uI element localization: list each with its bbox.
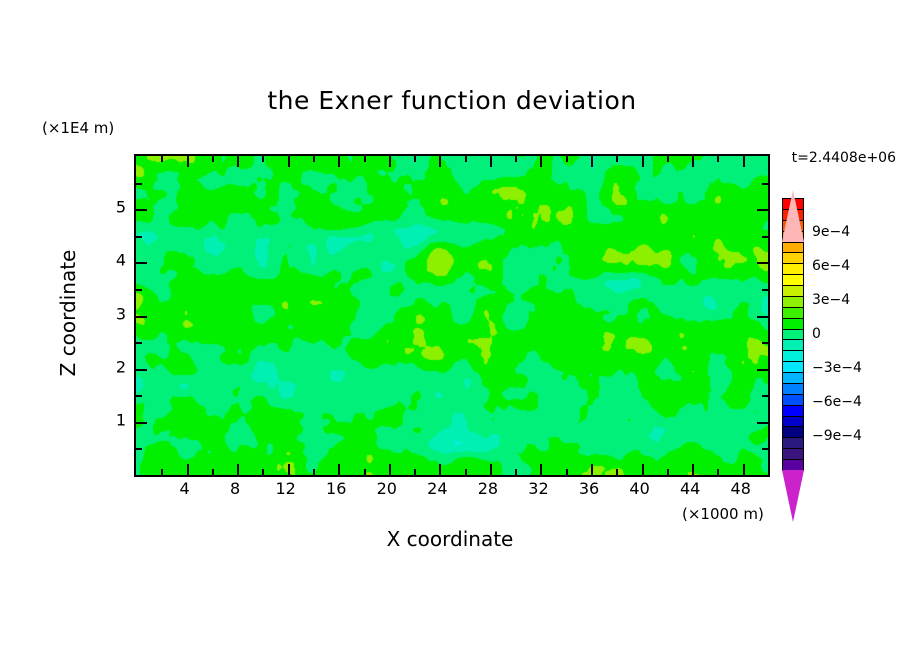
x-axis-tick-label: 48 xyxy=(731,479,751,498)
y-axis-tick-label: 5 xyxy=(116,198,126,217)
y-axis-tick xyxy=(136,422,147,424)
y-axis-tick xyxy=(136,236,142,238)
colorbar-tick-label: 9e−4 xyxy=(812,224,850,240)
x-axis-tick-top xyxy=(439,156,441,167)
y-axis-tick-right xyxy=(757,316,768,318)
x-axis-tick-top xyxy=(490,156,492,167)
colorbar-tick-label: 3e−4 xyxy=(812,292,850,308)
colorbar-under-arrow xyxy=(782,470,804,522)
x-axis-tick xyxy=(465,469,467,475)
figure-root: the Exner function deviation (×1E4 m) t=… xyxy=(0,0,904,654)
x-axis-unit-label: (×1000 m) xyxy=(682,505,764,523)
x-axis-tick-label: 24 xyxy=(427,479,447,498)
x-axis-tick xyxy=(642,464,644,475)
y-axis-tick xyxy=(136,183,142,185)
colorbar-tick-label: 6e−4 xyxy=(812,258,850,274)
x-axis-tick xyxy=(490,464,492,475)
page-title: the Exner function deviation xyxy=(0,86,904,115)
y-axis-tick-label: 2 xyxy=(116,357,126,376)
x-axis-tick-top xyxy=(313,156,315,162)
y-axis-tick-right xyxy=(757,422,768,424)
timestamp-annotation: t=2.4408e+06 xyxy=(792,150,896,166)
x-axis-tick xyxy=(540,464,542,475)
x-axis-tick xyxy=(439,464,441,475)
y-axis-title: Z coordinate xyxy=(56,250,80,377)
x-axis-tick-top xyxy=(389,156,391,167)
contour-field xyxy=(136,156,768,475)
x-axis-tick-label: 32 xyxy=(528,479,548,498)
x-axis-tick xyxy=(743,464,745,475)
x-axis-tick-top xyxy=(616,156,618,162)
y-axis-tick-label: 4 xyxy=(116,251,126,270)
x-axis-tick-top xyxy=(364,156,366,162)
colorbar-tick-label: −6e−4 xyxy=(812,394,862,410)
x-axis-tick-top xyxy=(717,156,719,162)
y-axis-tick-label: 3 xyxy=(116,304,126,323)
x-axis-tick-top xyxy=(288,156,290,167)
colorbar-tick-label: 0 xyxy=(812,326,821,342)
y-axis-tick-label: 1 xyxy=(116,410,126,429)
y-axis-tick-right xyxy=(762,342,768,344)
x-axis-tick-top xyxy=(692,156,694,167)
y-axis-tick xyxy=(136,342,142,344)
x-axis-tick-top xyxy=(642,156,644,167)
x-axis-tick-label: 40 xyxy=(629,479,649,498)
x-axis-tick xyxy=(262,469,264,475)
x-axis-tick-label: 20 xyxy=(377,479,397,498)
x-axis-tick xyxy=(212,469,214,475)
x-axis-tick xyxy=(616,469,618,475)
y-axis-tick xyxy=(136,316,147,318)
x-axis-tick-label: 16 xyxy=(326,479,346,498)
x-axis-tick xyxy=(161,469,163,475)
x-axis-tick xyxy=(414,469,416,475)
x-axis-tick-top xyxy=(414,156,416,162)
y-axis-tick-right xyxy=(757,209,768,211)
x-axis-tick xyxy=(566,469,568,475)
x-axis-tick-top xyxy=(338,156,340,167)
y-axis-tick-right xyxy=(762,236,768,238)
x-axis-tick-top xyxy=(262,156,264,162)
x-axis-tick-top xyxy=(743,156,745,167)
x-axis-tick-label: 4 xyxy=(179,479,189,498)
x-axis-tick-top xyxy=(161,156,163,162)
y-axis-tick xyxy=(136,448,142,450)
x-axis-tick-label: 36 xyxy=(579,479,599,498)
x-axis-tick xyxy=(515,469,517,475)
y-axis-tick-right xyxy=(757,369,768,371)
y-axis-tick-right xyxy=(762,289,768,291)
x-axis-tick xyxy=(187,464,189,475)
x-axis-tick-top xyxy=(540,156,542,167)
y-axis-tick xyxy=(136,395,142,397)
x-axis-tick xyxy=(717,469,719,475)
x-axis-tick-top xyxy=(566,156,568,162)
contour-plot-area xyxy=(134,154,770,477)
x-axis-tick-top xyxy=(187,156,189,167)
x-axis-tick-top xyxy=(667,156,669,162)
y-axis-tick xyxy=(136,209,147,211)
y-axis-tick-right xyxy=(762,448,768,450)
x-axis-tick xyxy=(364,469,366,475)
x-axis-tick-label: 12 xyxy=(275,479,295,498)
y-axis-tick xyxy=(136,289,142,291)
x-axis-tick-top xyxy=(515,156,517,162)
x-axis-tick-label: 8 xyxy=(230,479,240,498)
x-axis-tick xyxy=(288,464,290,475)
x-axis-tick-label: 28 xyxy=(478,479,498,498)
x-axis-tick-top xyxy=(237,156,239,167)
y-axis-unit-label: (×1E4 m) xyxy=(42,119,114,137)
x-axis-tick xyxy=(313,469,315,475)
colorbar-tick-label: −9e−4 xyxy=(812,428,862,444)
x-axis-tick-top xyxy=(212,156,214,162)
x-axis-tick-label: 44 xyxy=(680,479,700,498)
y-axis-tick xyxy=(136,262,147,264)
x-axis-tick xyxy=(591,464,593,475)
x-axis-tick-top xyxy=(465,156,467,162)
colorbar-over-arrow xyxy=(782,190,804,242)
x-axis-tick xyxy=(692,464,694,475)
y-axis-tick-right xyxy=(757,262,768,264)
x-axis-tick-top xyxy=(591,156,593,167)
x-axis-tick xyxy=(667,469,669,475)
y-axis-tick-right xyxy=(762,395,768,397)
x-axis-tick xyxy=(338,464,340,475)
y-axis-tick-right xyxy=(762,183,768,185)
y-axis-tick xyxy=(136,369,147,371)
x-axis-tick xyxy=(389,464,391,475)
x-axis-tick xyxy=(237,464,239,475)
colorbar-tick-label: −3e−4 xyxy=(812,360,862,376)
x-axis-title: X coordinate xyxy=(134,527,766,551)
